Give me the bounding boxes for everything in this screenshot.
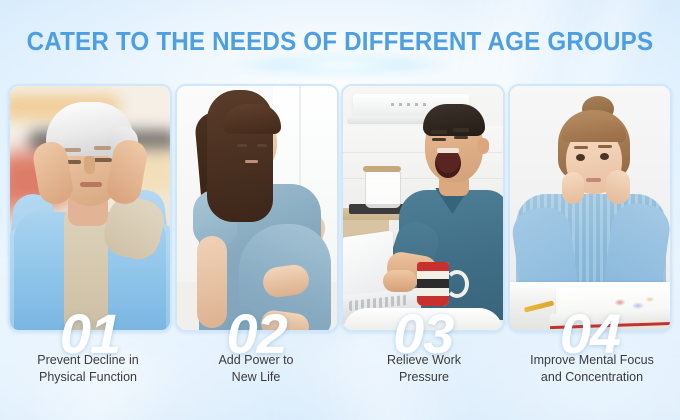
arm-left <box>197 236 227 328</box>
eye-left <box>237 144 247 147</box>
caption-02: Add Power to New Life <box>176 352 336 404</box>
eye-right <box>600 153 609 160</box>
caption-04: Improve Mental Focus and Concentration <box>512 352 672 404</box>
card-photo-bored-girl <box>510 86 670 330</box>
eyebrow-left <box>574 146 588 149</box>
card-03[interactable]: 03 <box>341 84 505 332</box>
eyebrow-right <box>94 146 111 150</box>
page-title-text: CATER TO THE NEEDS OF DIFFERENT AGE GROU… <box>27 26 654 57</box>
caption-02-line2: New Life <box>176 369 336 386</box>
hair-fringe <box>562 120 626 142</box>
card-photo-man-yawning <box>343 86 503 330</box>
caption-row: Prevent Decline in Physical Function Add… <box>8 352 672 404</box>
card-photo-elderly-man <box>10 86 170 330</box>
mouth <box>245 160 258 163</box>
nose <box>84 156 95 174</box>
hand-right-on-cheek <box>606 170 630 204</box>
eye-right <box>257 144 267 147</box>
caption-01-line2: Physical Function <box>8 369 168 386</box>
caption-03: Relieve Work Pressure <box>344 352 504 404</box>
card-01[interactable]: 01 <box>8 84 172 332</box>
mouth <box>80 182 102 187</box>
mouth <box>586 178 601 182</box>
table <box>343 308 503 330</box>
card-row: 01 <box>8 84 672 328</box>
caption-01: Prevent Decline in Physical Function <box>8 352 168 404</box>
caption-01-line1: Prevent Decline in <box>8 352 168 369</box>
scarf <box>64 208 108 330</box>
card-02[interactable]: 02 <box>175 84 339 332</box>
teeth <box>437 148 459 153</box>
eye-right <box>94 158 112 162</box>
hand-left-on-cheek <box>562 172 584 204</box>
hair-front <box>223 104 281 134</box>
caption-04-line1: Improve Mental Focus <box>512 352 672 369</box>
hand-on-laptop <box>383 270 417 292</box>
card-04[interactable]: 04 <box>508 84 672 332</box>
eyebrow-left <box>431 130 447 134</box>
ear <box>477 138 489 154</box>
eyebrow-right <box>453 128 469 132</box>
card-photo-pregnant-woman <box>177 86 337 330</box>
eye-right <box>454 136 468 139</box>
striped-mug <box>417 262 449 306</box>
caption-03-line1: Relieve Work <box>344 352 504 369</box>
caption-04-line2: and Concentration <box>512 369 672 386</box>
banner-root: CATER TO THE NEEDS OF DIFFERENT AGE GROU… <box>0 0 680 420</box>
eyebrow-left <box>64 148 81 152</box>
eyebrow-right <box>598 145 612 148</box>
caption-02-line1: Add Power to <box>176 352 336 369</box>
eye-left <box>432 138 446 141</box>
page-title: CATER TO THE NEEDS OF DIFFERENT AGE GROU… <box>0 26 680 57</box>
caption-03-line2: Pressure <box>344 369 504 386</box>
eye-left <box>576 154 585 161</box>
